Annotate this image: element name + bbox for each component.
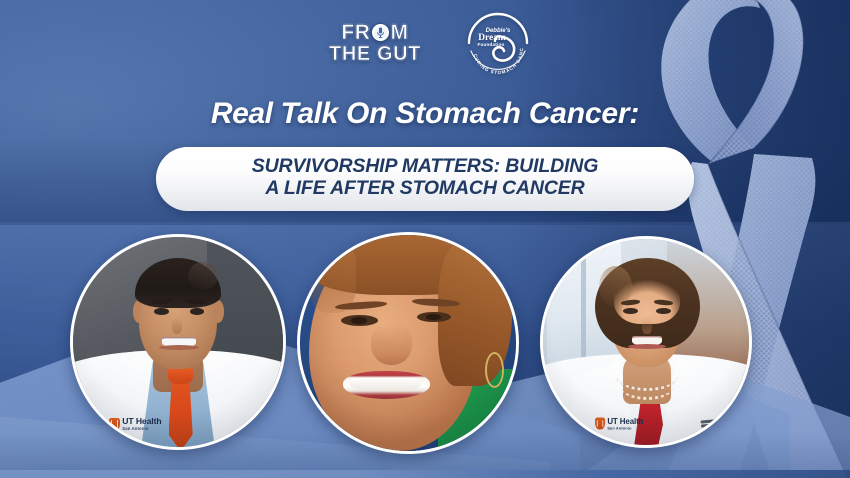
promo-graphic: FR M THE GUT xyxy=(0,0,850,478)
ut-health-badge-3: UT Health San Antonio xyxy=(595,417,643,430)
page-title: Real Talk On Stomach Cancer: xyxy=(0,98,850,129)
debbies-dream-foundation-logo: Debbie's Dream Foundation CURING STOMACH… xyxy=(462,7,534,79)
logo-row: FR M THE GUT xyxy=(0,6,850,80)
portrait-speaker-3-image: UT Health San Antonio xyxy=(543,239,749,445)
bottom-edge-strip xyxy=(0,470,850,478)
from-the-gut-logo: FR M THE GUT xyxy=(316,10,434,76)
ut-health-shield-icon xyxy=(595,418,605,430)
ut-health-badge-line2: San Antonio xyxy=(607,426,643,430)
page-title-emphasis: Real Talk xyxy=(211,97,338,130)
portrait-speaker-3: UT Health San Antonio xyxy=(540,236,752,448)
portrait-speaker-2-image xyxy=(300,235,516,451)
pearl-necklace-inner-icon xyxy=(620,371,674,400)
microphone-icon xyxy=(372,24,389,41)
from-the-gut-line2: THE GUT xyxy=(329,44,421,64)
from-the-gut-word-m: M xyxy=(391,22,409,43)
ut-health-badge-line2: San Antonio xyxy=(122,427,161,431)
ut-health-badge-line1: UT Health xyxy=(607,417,643,425)
from-the-gut-word-fr: FR xyxy=(341,22,370,43)
from-the-gut-line1: FR M xyxy=(341,22,408,43)
subtitle-pill: SURVIVORSHIP MATTERS: BUILDING A LIFE AF… xyxy=(156,147,694,211)
svg-text:Foundation: Foundation xyxy=(477,42,504,47)
subtitle-text: SURVIVORSHIP MATTERS: BUILDING A LIFE AF… xyxy=(182,156,668,200)
portrait-speaker-1: UT Health San Antonio xyxy=(70,234,286,450)
portrait-speaker-2 xyxy=(297,232,519,454)
ut-health-badge-line1: UT Health xyxy=(122,417,161,426)
page-title-rest: On Stomach Cancer: xyxy=(338,97,639,130)
ut-health-badge-1: UT Health San Antonio xyxy=(109,417,162,431)
ut-health-shield-icon xyxy=(109,418,120,431)
portrait-speaker-1-image: UT Health San Antonio xyxy=(73,237,283,447)
